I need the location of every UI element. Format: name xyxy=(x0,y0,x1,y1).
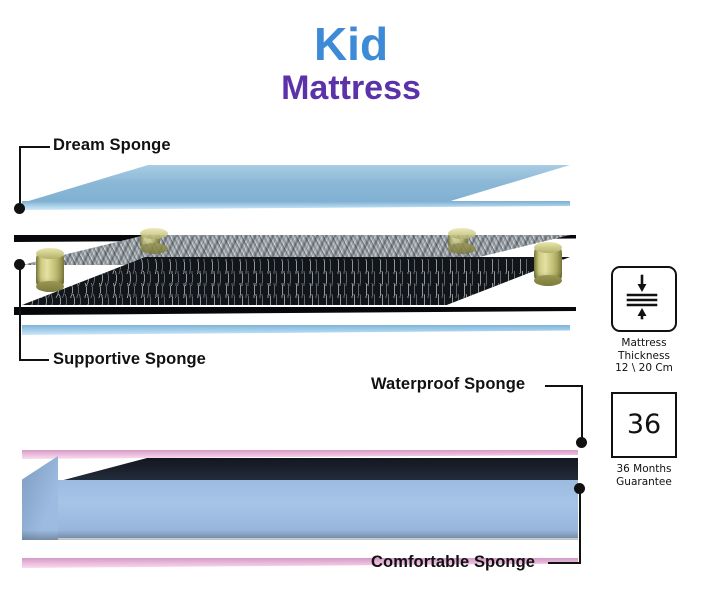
top-assembly-exploded-view xyxy=(0,165,600,345)
bottom-assembly-exploded-view xyxy=(0,418,600,568)
label-dream-sponge: Dream Sponge xyxy=(53,136,171,155)
label-comfortable-sponge: Comfortable Sponge xyxy=(371,553,535,572)
badge-guarantee: 36 36 Months Guarantee xyxy=(596,392,692,488)
guarantee-months-value: 36 xyxy=(613,394,675,456)
leader-supportive-horizontal xyxy=(19,359,49,361)
dream-sponge-top-face xyxy=(22,165,570,203)
leader-comfortable-horizontal xyxy=(548,562,581,564)
leader-supportive-vertical xyxy=(19,265,21,360)
guarantee-caption: 36 Months Guarantee xyxy=(596,463,692,488)
guarantee-caption-line2: Guarantee xyxy=(596,476,692,489)
leader-dream-horizontal xyxy=(20,146,50,148)
leader-dot-dream xyxy=(14,203,25,214)
supportive-sponge-edge xyxy=(22,325,570,335)
thickness-caption-line1: Mattress Thickness xyxy=(596,337,692,362)
felt-layer-upper xyxy=(14,213,576,237)
spring-cap-inner-left xyxy=(140,233,160,249)
thickness-arrows-icon xyxy=(613,268,671,326)
comfortable-sponge-left-face xyxy=(22,456,58,540)
thickness-icon-box xyxy=(611,266,677,332)
waterproof-sponge-edge xyxy=(22,450,578,459)
label-supportive-sponge: Supportive Sponge xyxy=(53,350,206,369)
spring-cap-inner-right xyxy=(448,233,468,249)
thickness-caption: Mattress Thickness 12 \ 20 Cm xyxy=(596,337,692,375)
badge-mattress-thickness: Mattress Thickness 12 \ 20 Cm xyxy=(596,266,692,375)
title-line-mattress: Mattress xyxy=(0,68,702,108)
thickness-caption-line2: 12 \ 20 Cm xyxy=(596,362,692,375)
mattress-infographic: Kid Mattress xyxy=(0,0,702,600)
waterproof-sponge-layer xyxy=(22,418,578,452)
leader-dot-waterproof xyxy=(576,437,587,448)
guarantee-caption-line1: 36 Months xyxy=(596,463,692,476)
spring-cap-right xyxy=(534,247,562,281)
supportive-sponge-layer xyxy=(22,307,570,327)
guarantee-box: 36 xyxy=(611,392,677,458)
label-waterproof-sponge: Waterproof Sponge xyxy=(371,375,525,394)
felt-layer-lower xyxy=(14,283,576,309)
title-line-kid: Kid xyxy=(0,18,702,70)
leader-comfortable-vertical xyxy=(579,489,581,564)
leader-waterproof-vertical xyxy=(581,385,583,441)
dream-sponge-edge xyxy=(22,201,570,210)
dream-sponge-layer xyxy=(22,165,570,203)
page-title: Kid Mattress xyxy=(0,18,702,108)
leader-waterproof-horizontal xyxy=(545,385,583,387)
spring-cap-left xyxy=(36,253,64,287)
leader-dream-vertical xyxy=(19,146,21,208)
